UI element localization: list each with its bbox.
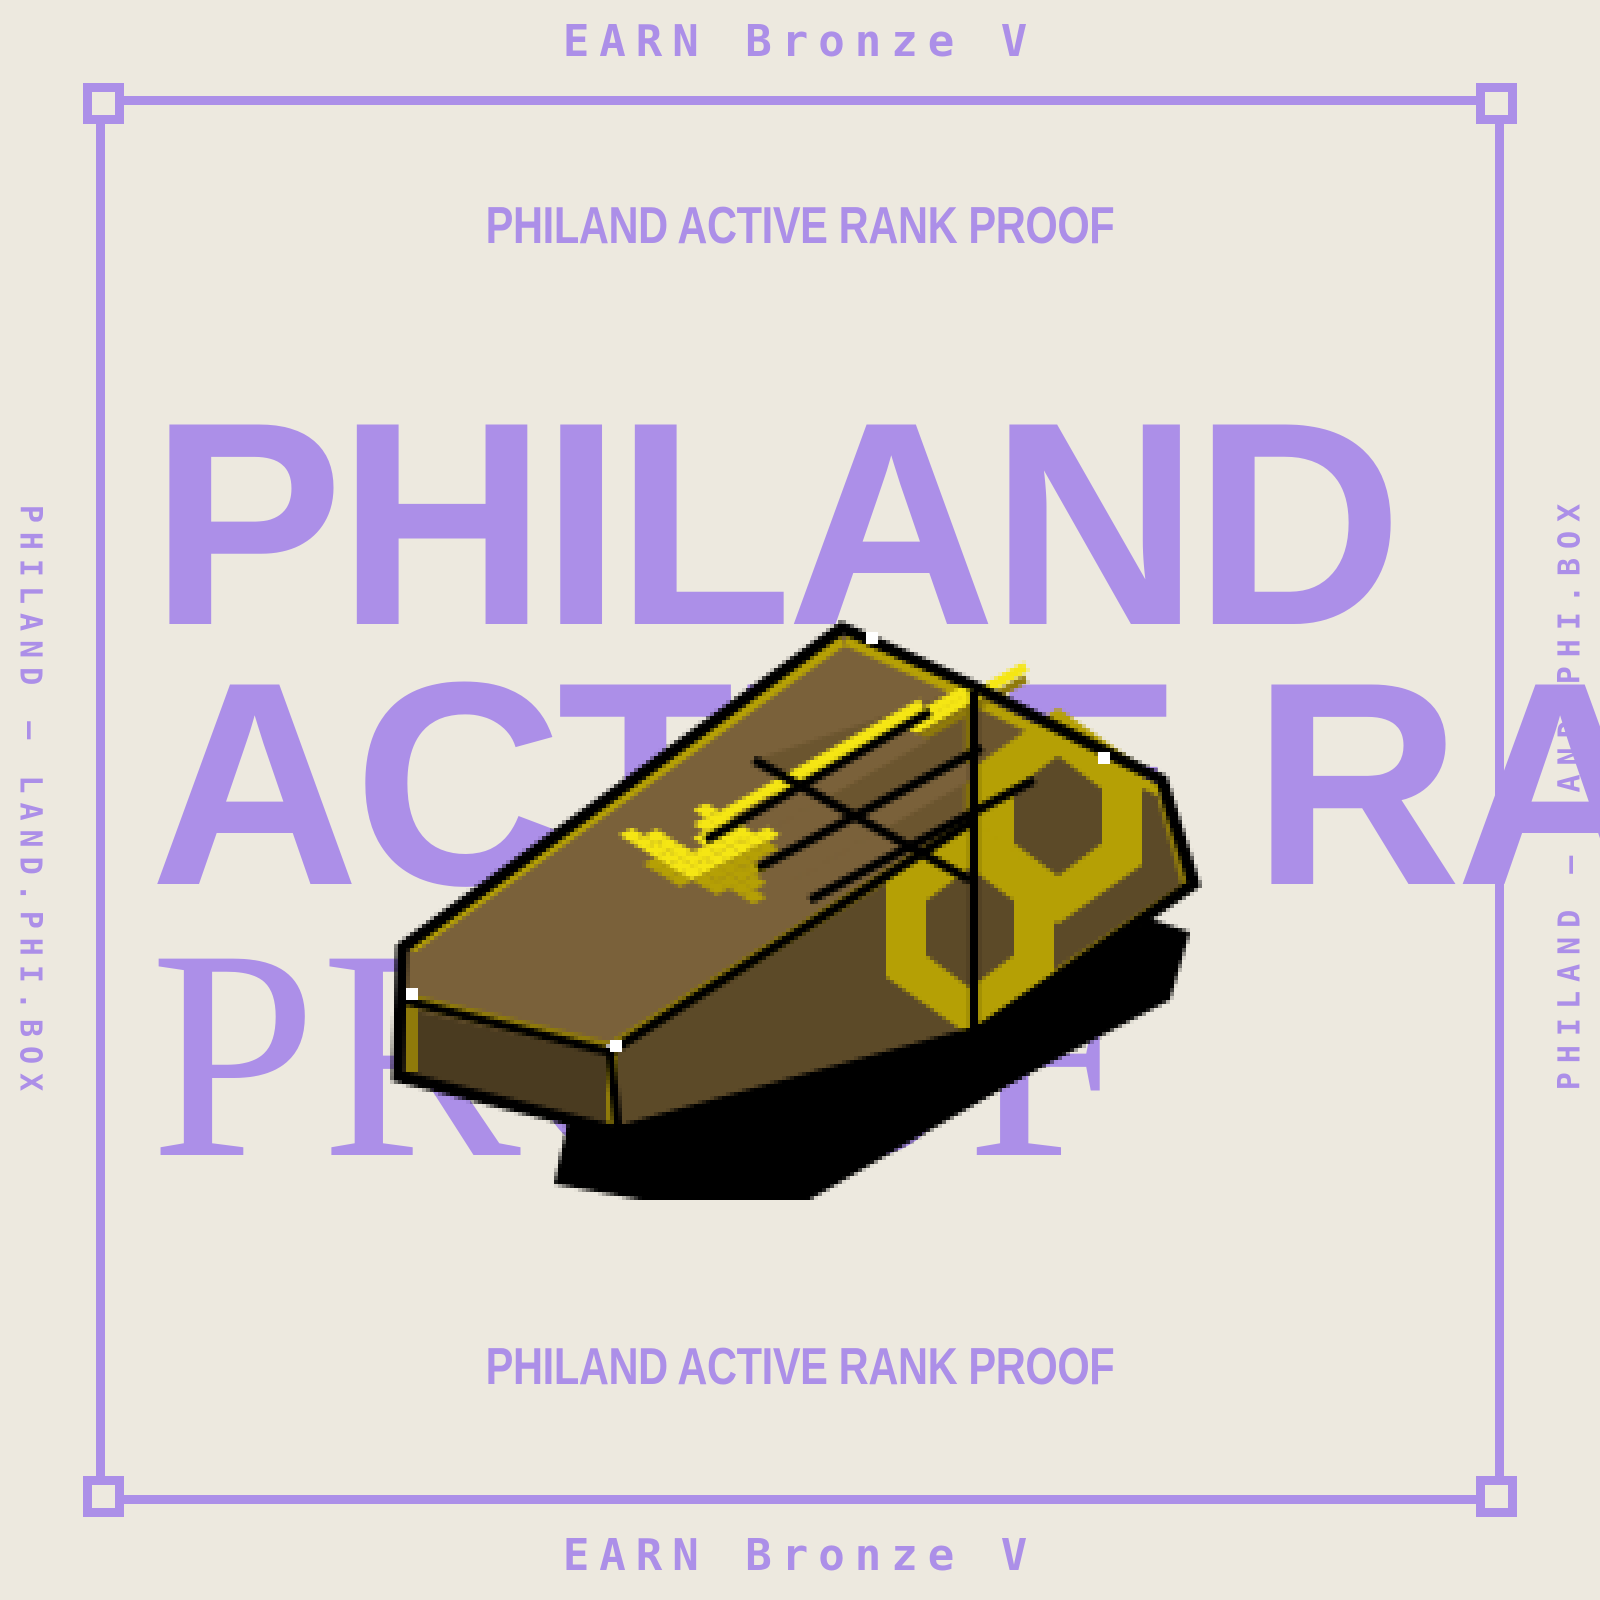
frame-line-left [96,96,105,1504]
side-text-right: PHILAND — LAND.PHI.BOX [1553,473,1588,1113]
footer-rank-strip: EARN Bronze V [0,1530,1600,1581]
corner-marker-bottom-right [1476,1476,1517,1517]
rank-badge-pixel-art [370,400,1210,1200]
frame-line-bottom [96,1495,1504,1504]
side-text-left: PHILAND — LAND.PHI.BOX [13,483,48,1123]
header-rank-strip: EARN Bronze V [0,16,1600,67]
frame-line-top [96,96,1504,105]
corner-marker-top-right [1476,83,1517,124]
footer-caption: PHILAND ACTIVE RANK PROOF [160,1337,1440,1397]
frame-line-right [1495,96,1504,1504]
corner-marker-bottom-left [83,1476,124,1517]
rank-badge [370,400,1210,1200]
corner-marker-top-left [83,83,124,124]
artwork-canvas: EARN Bronze V PHILAND ACTIVE RANK PROOF … [0,0,1600,1600]
